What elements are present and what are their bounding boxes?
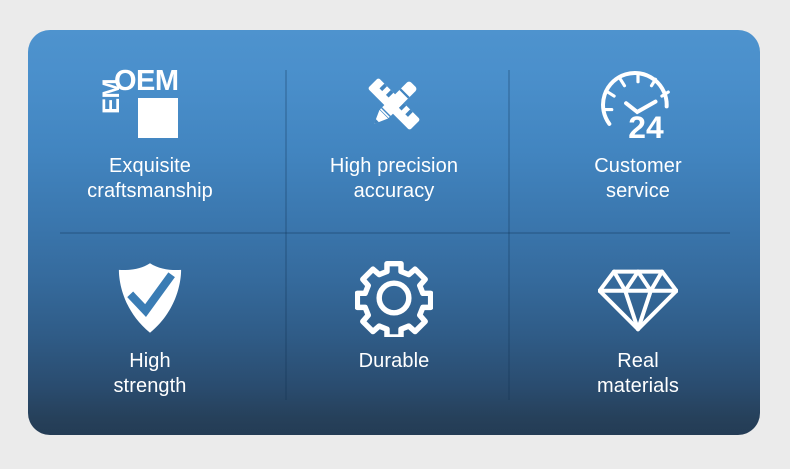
clock-icon-badge-text: 24 <box>628 109 664 143</box>
oem-badge-icon: OEM EM <box>112 64 188 144</box>
feature-label: High strength <box>113 349 186 399</box>
page-root: OEM EM Exquisite craftsmanship <box>0 0 790 469</box>
feature-label: Exquisite craftsmanship <box>87 154 213 204</box>
pencil-ruler-icon <box>356 64 432 144</box>
feature-cell-high-strength: High strength <box>28 233 272 436</box>
features-grid: OEM EM Exquisite craftsmanship <box>28 30 760 435</box>
diamond-icon <box>598 255 678 341</box>
feature-cell-high-precision-accuracy: High precision accuracy <box>272 30 516 233</box>
oem-icon-square <box>138 98 178 138</box>
clock-24-icon: 24 <box>598 64 678 144</box>
gear-icon <box>355 255 433 341</box>
product-features-panel: OEM EM Exquisite craftsmanship <box>28 30 760 435</box>
feature-cell-durable: Durable <box>272 233 516 436</box>
feature-cell-exquisite-craftsmanship: OEM EM Exquisite craftsmanship <box>28 30 272 233</box>
feature-label: High precision accuracy <box>330 154 458 204</box>
feature-label: Customer service <box>594 154 682 204</box>
oem-icon-side-text: EM <box>100 79 124 114</box>
feature-cell-customer-service: 24 Customer service <box>516 30 760 233</box>
feature-cell-real-materials: Real materials <box>516 233 760 436</box>
feature-label: Real materials <box>597 349 679 399</box>
shield-check-icon <box>113 255 187 341</box>
feature-label: Durable <box>359 349 430 374</box>
